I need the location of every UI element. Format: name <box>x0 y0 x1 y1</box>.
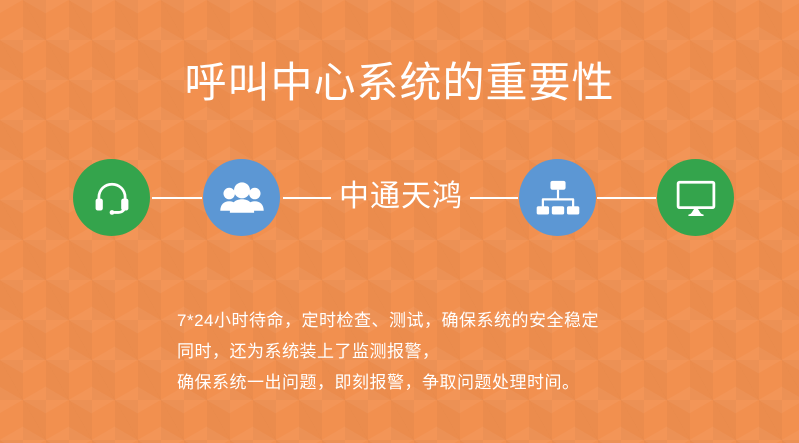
flow-connector-1 <box>152 197 202 199</box>
body-copy: 7*24小时待命，定时检查、测试，确保系统的安全稳定 同时，还为系统装上了监测报… <box>177 305 599 398</box>
flow-node-users[interactable] <box>203 159 280 236</box>
body-line: 确保系统一出问题，即刻报警，争取问题处理时间。 <box>177 367 599 398</box>
flow-connector-2 <box>283 197 331 199</box>
process-flow: 中通天鸿 <box>0 159 799 237</box>
flow-connector-3 <box>470 197 518 199</box>
body-line: 7*24小时待命，定时检查、测试，确保系统的安全稳定 <box>177 305 599 336</box>
body-line: 同时，还为系统装上了监测报警， <box>177 336 599 367</box>
users-group-icon <box>219 177 265 219</box>
brand-label: 中通天鸿 <box>331 179 471 215</box>
flow-node-sitemap[interactable] <box>519 159 596 236</box>
monitor-icon <box>674 178 718 218</box>
flow-node-headset[interactable] <box>73 159 150 236</box>
poster-canvas: 呼叫中心系统的重要性 <box>0 0 799 443</box>
headset-icon <box>91 177 133 219</box>
page-title: 呼叫中心系统的重要性 <box>0 58 799 108</box>
sitemap-icon <box>536 178 580 218</box>
flow-node-monitor[interactable] <box>657 159 734 236</box>
flow-connector-4 <box>597 197 656 199</box>
